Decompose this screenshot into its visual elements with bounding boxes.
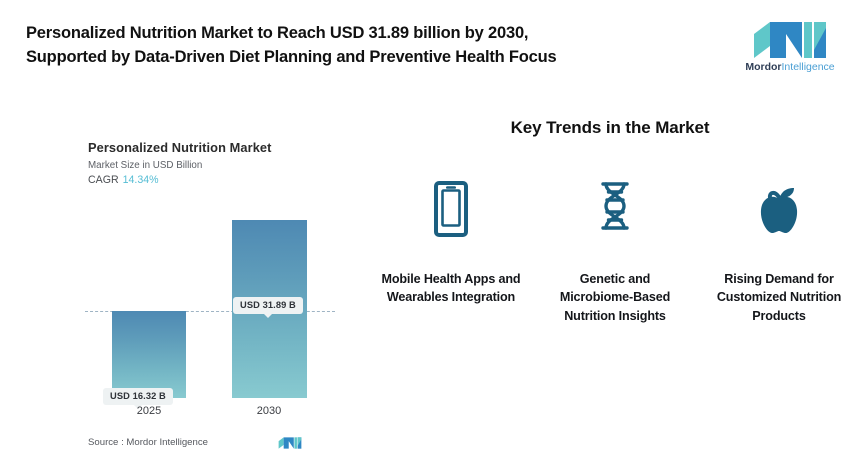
value-label-2030: USD 31.89 B bbox=[233, 297, 303, 314]
source-logo-icon bbox=[278, 436, 302, 450]
x-axis-tick-2025: 2025 bbox=[104, 405, 194, 417]
source-text: Source : Mordor Intelligence bbox=[88, 437, 208, 448]
mobile-phone-icon bbox=[434, 178, 468, 240]
trend-item-genetic-microbiome: Genetic and Microbiome-Based Nutrition I… bbox=[544, 178, 686, 325]
chart-plot-area: USD 16.32 B USD 31.89 B 2025 2030 bbox=[0, 100, 360, 474]
logo-word-primary: Mordor bbox=[745, 61, 781, 73]
trends-heading: Key Trends in the Market bbox=[360, 118, 860, 138]
trend-label-genetic-microbiome: Genetic and Microbiome-Based Nutrition I… bbox=[544, 270, 686, 325]
apple-icon bbox=[756, 178, 802, 240]
trend-item-mobile-health: Mobile Health Apps and Wearables Integra… bbox=[380, 178, 522, 307]
chart-source: Source : Mordor Intelligence bbox=[88, 436, 338, 452]
key-trends-panel: Key Trends in the Market Mobile Health A… bbox=[360, 100, 860, 474]
x-axis-tick-2030: 2030 bbox=[224, 405, 314, 417]
trends-list: Mobile Health Apps and Wearables Integra… bbox=[380, 178, 850, 325]
page-header: Personalized Nutrition Market to Reach U… bbox=[0, 0, 860, 100]
value-label-2025: USD 16.32 B bbox=[103, 388, 173, 405]
trend-label-customized-nutrition: Rising Demand for Customized Nutrition P… bbox=[708, 270, 850, 325]
logo-wordmark: MordorIntelligence bbox=[742, 62, 838, 73]
headline-line-2: Supported by Data-Driven Diet Planning a… bbox=[26, 46, 716, 70]
headline-line-1: Personalized Nutrition Market to Reach U… bbox=[26, 22, 716, 46]
trend-item-customized-nutrition: Rising Demand for Customized Nutrition P… bbox=[708, 178, 850, 325]
mordor-intelligence-mark-icon bbox=[752, 20, 828, 60]
market-size-chart: Personalized Nutrition Market Market Siz… bbox=[0, 100, 360, 474]
page-title: Personalized Nutrition Market to Reach U… bbox=[26, 22, 716, 70]
trend-label-mobile-health: Mobile Health Apps and Wearables Integra… bbox=[380, 270, 522, 307]
brand-logo: MordorIntelligence bbox=[742, 20, 838, 80]
bar-2025 bbox=[112, 311, 186, 398]
logo-word-secondary: Intelligence bbox=[782, 61, 835, 73]
dna-helix-icon bbox=[595, 178, 635, 240]
